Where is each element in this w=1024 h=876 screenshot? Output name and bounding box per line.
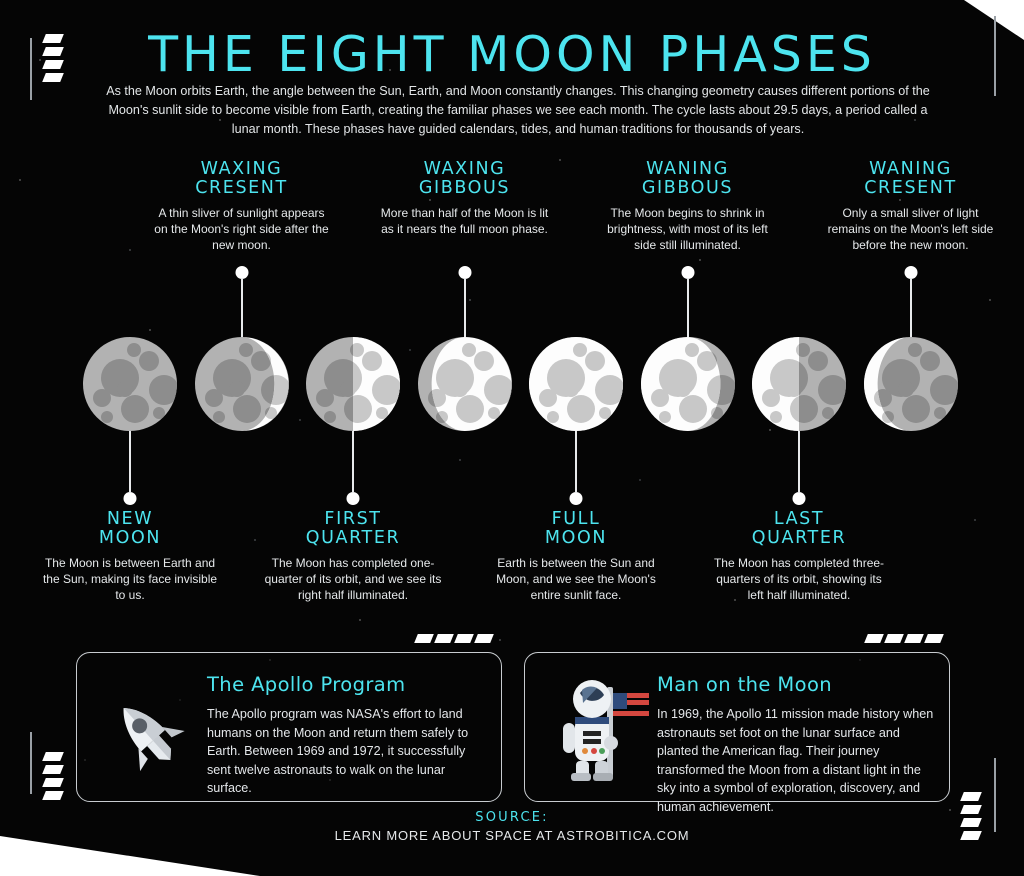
moon-lit-side xyxy=(529,337,623,431)
phase-description: Earth is between the Sun and Moon, and w… xyxy=(486,555,666,603)
phase-title: FIRSTQUARTER xyxy=(263,510,443,548)
card-man-on-the-moon[interactable]: Man on the Moon In 1969, the Apollo 11 m… xyxy=(524,652,950,802)
source-label: SOURCE: xyxy=(0,810,1024,825)
phase-description: The Moon is between Earth and the Sun, m… xyxy=(40,555,220,603)
phase-connector xyxy=(346,431,360,505)
card-heading: Man on the Moon xyxy=(657,673,935,696)
phase-description: The Moon has completed one-quarter of it… xyxy=(263,555,443,603)
moon-phase-8 xyxy=(864,337,958,431)
decor-line-bottom-left xyxy=(30,732,32,794)
moon-phase-6 xyxy=(641,337,735,431)
phase-connector xyxy=(458,266,472,337)
moon-phase-1 xyxy=(83,337,177,431)
rocket-icon xyxy=(99,695,195,778)
phase-label-4: WAXINGGIBBOUSMore than half of the Moon … xyxy=(375,160,555,237)
phase-title: WAXINGCRESENT xyxy=(152,160,332,198)
phase-description: Only a small sliver of light remains on … xyxy=(821,205,1001,253)
card-apollo-program[interactable]: The Apollo Program The Apollo program wa… xyxy=(76,652,502,802)
phase-connector xyxy=(681,266,695,337)
phase-connector xyxy=(235,266,249,337)
phase-title: WANINGGIBBOUS xyxy=(598,160,778,198)
decor-dashes-bottom-left xyxy=(44,752,62,800)
moon-shadow-side xyxy=(83,337,177,431)
card-heading: The Apollo Program xyxy=(207,673,483,696)
phase-title: WAXINGGIBBOUS xyxy=(375,160,555,198)
infographic-page: THE EIGHT MOON PHASES As the Moon orbits… xyxy=(0,0,1024,876)
phase-title: FULLMOON xyxy=(486,510,666,548)
phase-label-1: NEWMOONThe Moon is between Earth and the… xyxy=(40,510,220,603)
moon-phase-3 xyxy=(306,337,400,431)
footer: SOURCE: LEARN MORE ABOUT SPACE AT ASTROB… xyxy=(0,810,1024,843)
phase-label-7: LASTQUARTERThe Moon has completed three-… xyxy=(709,510,889,603)
phase-title: LASTQUARTER xyxy=(709,510,889,548)
phase-label-6: WANINGGIBBOUSThe Moon begins to shrink i… xyxy=(598,160,778,253)
phase-title: WANINGCRESENT xyxy=(821,160,1001,198)
phase-connector xyxy=(904,266,918,337)
decor-dashes-card-right xyxy=(866,634,942,643)
phase-connector xyxy=(792,431,806,505)
phase-description: The Moon has completed three-quarters of… xyxy=(709,555,889,603)
phase-description: A thin sliver of sunlight appears on the… xyxy=(152,205,332,253)
moon-phase-2 xyxy=(195,337,289,431)
phase-label-2: WAXINGCRESENTA thin sliver of sunlight a… xyxy=(152,160,332,253)
phase-description: More than half of the Moon is lit as it … xyxy=(375,205,555,237)
phase-connector xyxy=(569,431,583,505)
phase-label-5: FULLMOONEarth is between the Sun and Moo… xyxy=(486,510,666,603)
source-url[interactable]: LEARN MORE ABOUT SPACE AT ASTROBITICA.CO… xyxy=(0,828,1024,843)
phase-connector xyxy=(123,431,137,505)
intro-paragraph: As the Moon orbits Earth, the angle betw… xyxy=(100,82,936,139)
astronaut-icon xyxy=(549,673,649,788)
card-body: In 1969, the Apollo 11 mission made hist… xyxy=(657,705,935,816)
decor-dashes-card-left xyxy=(416,634,492,643)
phase-title: NEWMOON xyxy=(40,510,220,548)
moon-phase-5 xyxy=(529,337,623,431)
page-title: THE EIGHT MOON PHASES xyxy=(0,26,1024,83)
moon-phase-4 xyxy=(418,337,512,431)
phase-label-8: WANINGCRESENTOnly a small sliver of ligh… xyxy=(821,160,1001,253)
moon-phase-7 xyxy=(752,337,846,431)
phase-label-3: FIRSTQUARTERThe Moon has completed one-q… xyxy=(263,510,443,603)
card-body: The Apollo program was NASA's effort to … xyxy=(207,705,483,798)
phase-description: The Moon begins to shrink in brightness,… xyxy=(598,205,778,253)
